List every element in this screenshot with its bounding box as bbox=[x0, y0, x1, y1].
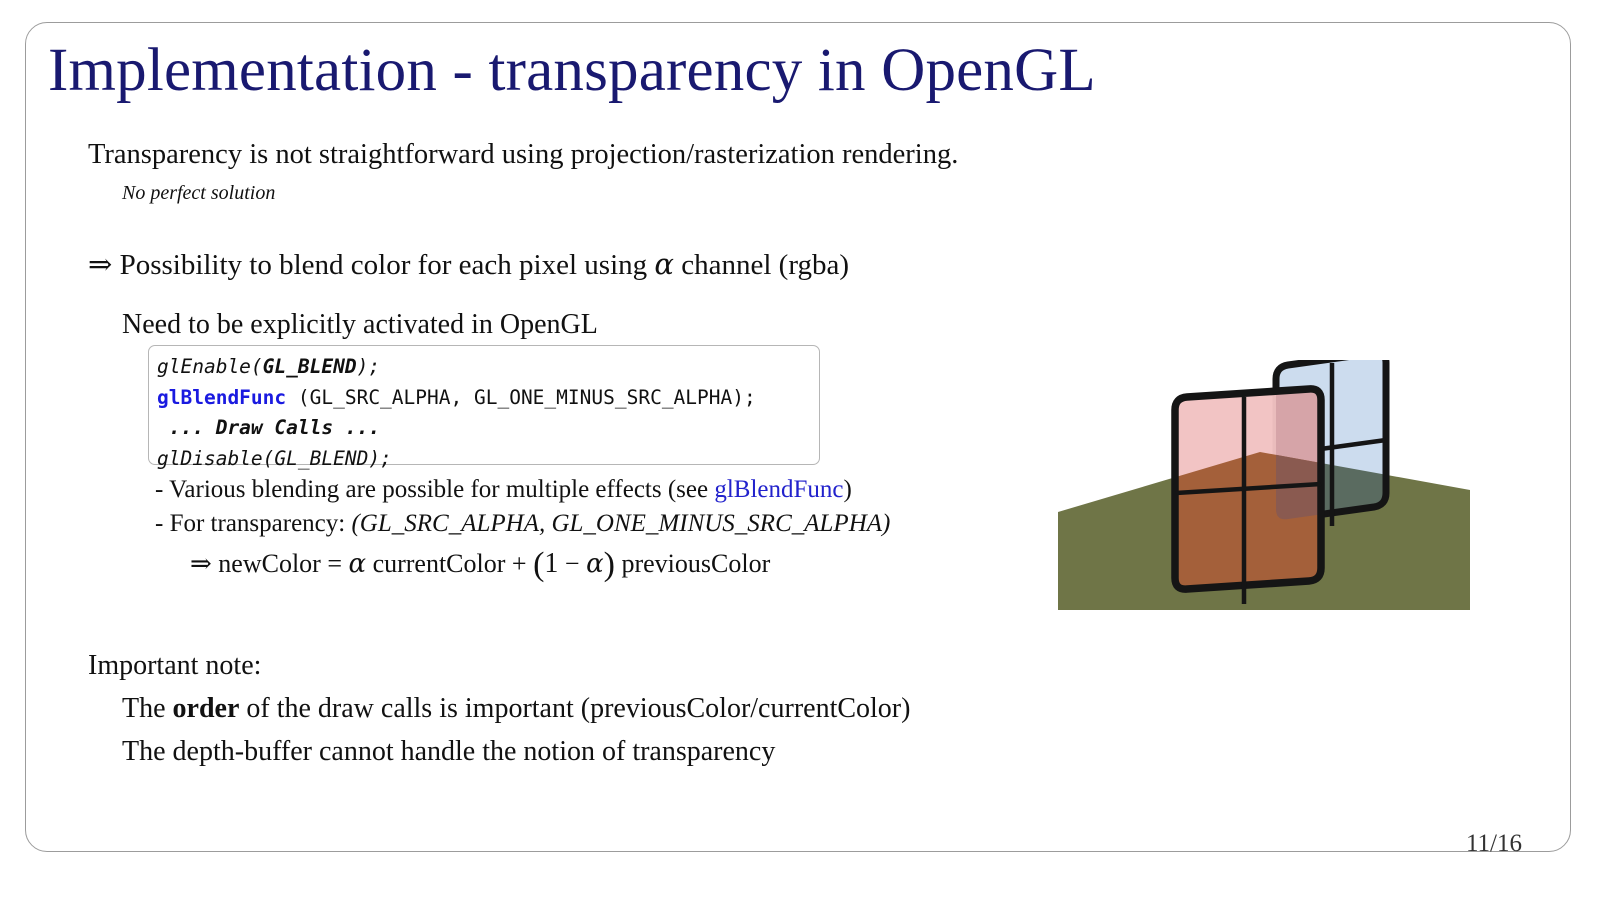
code-block: glEnable(GL_BLEND); glBlendFunc (GL_SRC_… bbox=[148, 345, 820, 465]
double-arrow-icon: ⇒ bbox=[88, 249, 112, 281]
possibility-line: ⇒ Possibility to blend color for each pi… bbox=[88, 247, 849, 282]
bullet-various-blending: - Various blending are possible for mult… bbox=[155, 476, 852, 504]
important-note-heading: Important note: bbox=[88, 650, 261, 682]
note-line1-a: The bbox=[122, 693, 173, 724]
code-gl-blend-token: GL_BLEND bbox=[263, 355, 357, 378]
formula-one: 1 bbox=[544, 548, 558, 579]
formula-open-paren: ( bbox=[533, 546, 544, 583]
formula-alpha-2: α bbox=[586, 549, 604, 579]
formula-mid: currentColor + bbox=[366, 549, 533, 578]
possibility-text-after: channel (rgba) bbox=[674, 249, 849, 281]
code-line-3: ... Draw Calls ... bbox=[157, 413, 819, 444]
formula-tail: previousColor bbox=[615, 549, 770, 578]
code-draw-calls-token: ... Draw Calls ... bbox=[157, 416, 380, 439]
intro-subline: No perfect solution bbox=[122, 182, 275, 205]
formula-lead: newColor = bbox=[212, 549, 349, 578]
code-line-2: glBlendFunc (GL_SRC_ALPHA, GL_ONE_MINUS_… bbox=[157, 383, 819, 414]
code-line1-tail: ); bbox=[357, 355, 380, 378]
alpha-symbol: α bbox=[654, 247, 674, 281]
need-activation-line: Need to be explicitly activated in OpenG… bbox=[122, 309, 598, 341]
formula-minus: − bbox=[558, 549, 586, 578]
glblendfunc-link[interactable]: glBlendFunc bbox=[714, 476, 843, 503]
bullet-1-tail: ) bbox=[844, 476, 852, 503]
bullet-1-text: - Various blending are possible for mult… bbox=[155, 476, 714, 503]
transparency-quads-illustration bbox=[1058, 360, 1470, 622]
formula-alpha-1: α bbox=[349, 549, 367, 579]
code-gldisable-call: glDisable(GL_BLEND); bbox=[157, 447, 392, 470]
note-order-line: The order of the draw calls is important… bbox=[122, 693, 910, 725]
possibility-text-before: Possibility to blend color for each pixe… bbox=[112, 249, 654, 281]
blend-formula: ⇒ newColor = α currentColor + (1 − α) pr… bbox=[190, 546, 770, 584]
code-glblendfunc-args: (GL_SRC_ALPHA, GL_ONE_MINUS_SRC_ALPHA); bbox=[286, 386, 756, 409]
intro-line: Transparency is not straightforward usin… bbox=[88, 139, 958, 171]
page-number: 11/16 bbox=[1466, 830, 1522, 858]
note-order-bold: order bbox=[173, 693, 240, 724]
bullet-2-params: (GL_SRC_ALPHA, GL_ONE_MINUS_SRC_ALPHA) bbox=[351, 510, 890, 537]
code-glenable-call: glEnable( bbox=[157, 355, 263, 378]
note-depth-buffer-line: The depth-buffer cannot handle the notio… bbox=[122, 736, 775, 768]
code-line-1: glEnable(GL_BLEND); bbox=[157, 352, 819, 383]
formula-close-paren: ) bbox=[604, 546, 615, 583]
bullet-2-text: - For transparency: bbox=[155, 510, 351, 537]
code-line-4: glDisable(GL_BLEND); bbox=[157, 444, 819, 475]
formula-arrow-icon: ⇒ bbox=[190, 549, 212, 578]
code-glblendfunc-token: glBlendFunc bbox=[157, 386, 286, 409]
note-line1-b: of the draw calls is important (previous… bbox=[239, 693, 910, 724]
bullet-for-transparency: - For transparency: (GL_SRC_ALPHA, GL_ON… bbox=[155, 510, 890, 538]
